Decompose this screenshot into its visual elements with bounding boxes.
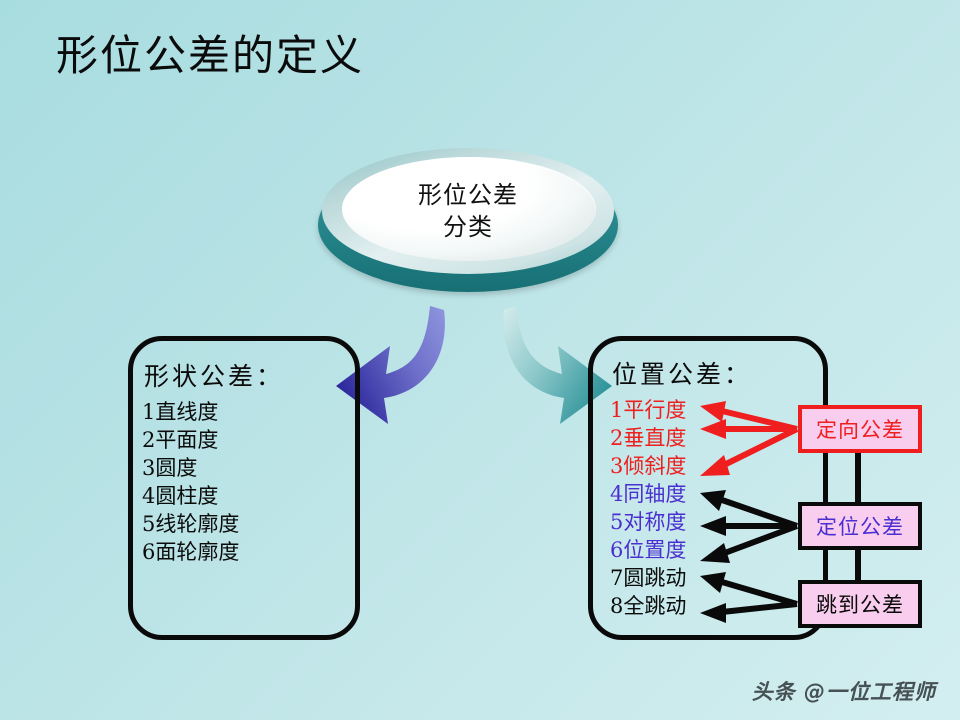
center-ellipse-line1: 形位公差: [418, 179, 518, 211]
form-tolerance-heading: 形状公差：: [144, 362, 284, 392]
list-item: 3倾斜度: [610, 452, 686, 480]
list-item: 2垂直度: [610, 424, 686, 452]
list-item: 4同轴度: [610, 480, 686, 508]
list-item: 1直线度: [142, 398, 239, 426]
center-ellipse-line2: 分类: [443, 211, 493, 243]
list-item: 6位置度: [610, 536, 686, 564]
callout-runout-tolerance[interactable]: 跳到公差: [798, 580, 922, 628]
list-item: 6面轮廓度: [142, 538, 239, 566]
callout-orientation-tolerance[interactable]: 定向公差: [798, 405, 922, 453]
callout-location-tolerance[interactable]: 定位公差: [798, 502, 922, 550]
list-item: 2平面度: [142, 426, 239, 454]
list-item: 3圆度: [142, 454, 239, 482]
position-tolerance-list: 1平行度 2垂直度 3倾斜度 4同轴度 5对称度 6位置度 7圆跳动 8全跳动: [610, 396, 686, 620]
list-item: 7圆跳动: [610, 564, 686, 592]
list-item: 5线轮廓度: [142, 510, 239, 538]
position-tolerance-heading: 位置公差：: [612, 360, 752, 390]
list-item: 1平行度: [610, 396, 686, 424]
center-ellipse-node: 形位公差 分类: [318, 148, 618, 292]
list-item: 5对称度: [610, 508, 686, 536]
form-tolerance-list: 1直线度 2平面度 3圆度 4圆柱度 5线轮廓度 6面轮廓度: [142, 398, 239, 566]
slide-canvas: 形位公差的定义 形位公差 分类 形状公差：: [0, 0, 960, 720]
list-item: 8全跳动: [610, 592, 686, 620]
watermark: 头条 @一位工程师: [752, 676, 936, 706]
center-ellipse-label: 形位公差 分类: [318, 148, 618, 274]
page-title: 形位公差的定义: [56, 28, 364, 84]
list-item: 4圆柱度: [142, 482, 239, 510]
